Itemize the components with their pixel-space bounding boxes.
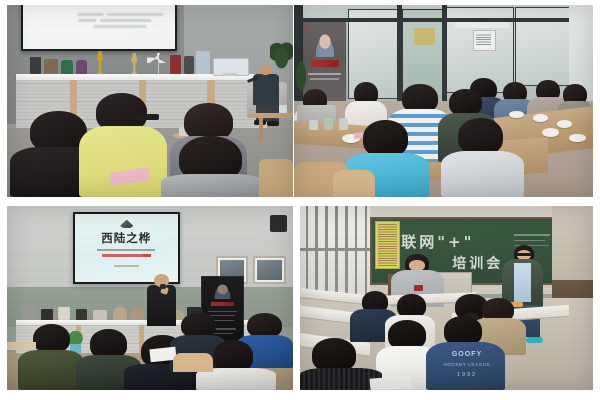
shelf-figurine (76, 60, 87, 74)
chalk-mark (514, 240, 545, 241)
shelf-object (113, 307, 127, 320)
shelf-figurine (30, 57, 41, 74)
photo-bottom-right[interactable]: 互联网"+" 培训会 (300, 206, 593, 390)
door-signage (414, 28, 435, 45)
presenter-shirt (514, 263, 532, 302)
coffee-table (250, 113, 293, 119)
photo-collage: 西陆之桦 (0, 0, 600, 400)
glass-highlight (455, 22, 509, 28)
notebook (370, 375, 412, 390)
table-leg (259, 118, 263, 141)
photo-top-left[interactable] (7, 5, 293, 197)
water-glass (279, 105, 288, 113)
notice-poster (375, 221, 400, 269)
eyeglasses-icon (136, 114, 159, 120)
wall-speaker-icon (270, 215, 287, 232)
potted-plant (270, 40, 293, 71)
poster-portrait (212, 283, 233, 299)
table-vase (339, 118, 348, 130)
student-head-foreground (312, 338, 356, 371)
audience-body (161, 174, 264, 197)
projector-screen-icon: 西陆之桦 (73, 212, 180, 284)
banner-subtitle (308, 73, 341, 75)
coffee-cup (569, 134, 585, 143)
wall-photo-frame (253, 256, 286, 284)
shelf-figurine (61, 60, 72, 74)
jacket-text-line-2: HOCKEY LEAGUE (435, 362, 499, 369)
jacket-text-line-1: GOOFY (441, 351, 494, 360)
coffee-cup (542, 128, 558, 137)
jacket-text-line-3: 1992 (444, 372, 491, 379)
poster-title (211, 302, 233, 306)
photo-top-right[interactable] (294, 5, 593, 197)
slide-footer-text (114, 265, 139, 266)
desk-surface (7, 342, 36, 349)
eyeglasses-icon (516, 253, 533, 256)
attendee-head-foreground (458, 118, 503, 154)
banner-title (311, 60, 339, 67)
microphone-icon (160, 284, 166, 289)
shelf-object (58, 307, 69, 320)
banner-portrait (313, 33, 337, 56)
window-rail (300, 248, 370, 251)
audience-head (213, 340, 253, 371)
table-vase (324, 118, 333, 130)
table-vase (309, 120, 318, 130)
banner-subtitle-secondary (310, 78, 339, 80)
slide-title: 西陆之桦 (93, 232, 159, 246)
photo-bottom-left[interactable]: 西陆之桦 (7, 206, 293, 390)
slide-text-lines (78, 13, 163, 31)
slide-divider (97, 249, 155, 251)
shelf-object (196, 51, 210, 74)
shelf-figurine (184, 56, 194, 74)
shelf-figurine (44, 59, 58, 74)
chalkboard-line-2: 培训会 (452, 253, 503, 273)
window-transom (294, 18, 593, 21)
audience-body (18, 350, 84, 390)
monitor-stand (223, 73, 237, 76)
lanyard-badge (414, 285, 423, 291)
slide-subtitle-bar (102, 254, 151, 257)
shelf-object (21, 305, 35, 320)
wooden-chair (259, 159, 293, 197)
chalk-mark (514, 234, 550, 235)
shelf-object (130, 307, 144, 320)
wooden-chair (173, 353, 213, 371)
projector-screen-icon (21, 5, 177, 51)
classroom-window (300, 206, 370, 302)
audience-head (33, 324, 70, 353)
shelf-figurine (170, 55, 181, 74)
shelf-object (41, 309, 52, 320)
coffee-cup (557, 120, 572, 128)
banner-accent-dot (305, 25, 308, 30)
windmill-blades (147, 53, 167, 63)
attendee-body-foreground (441, 151, 525, 197)
shelf-object (76, 309, 87, 320)
slide-logo-icon (120, 220, 133, 229)
shoe (526, 337, 544, 343)
potted-plant (294, 55, 306, 97)
attendee-head-foreground (363, 120, 408, 156)
shoe (267, 121, 278, 126)
wooden-chair (333, 170, 375, 197)
shelf-object (93, 310, 107, 320)
audience-body (79, 126, 168, 197)
notice-text (476, 34, 491, 46)
